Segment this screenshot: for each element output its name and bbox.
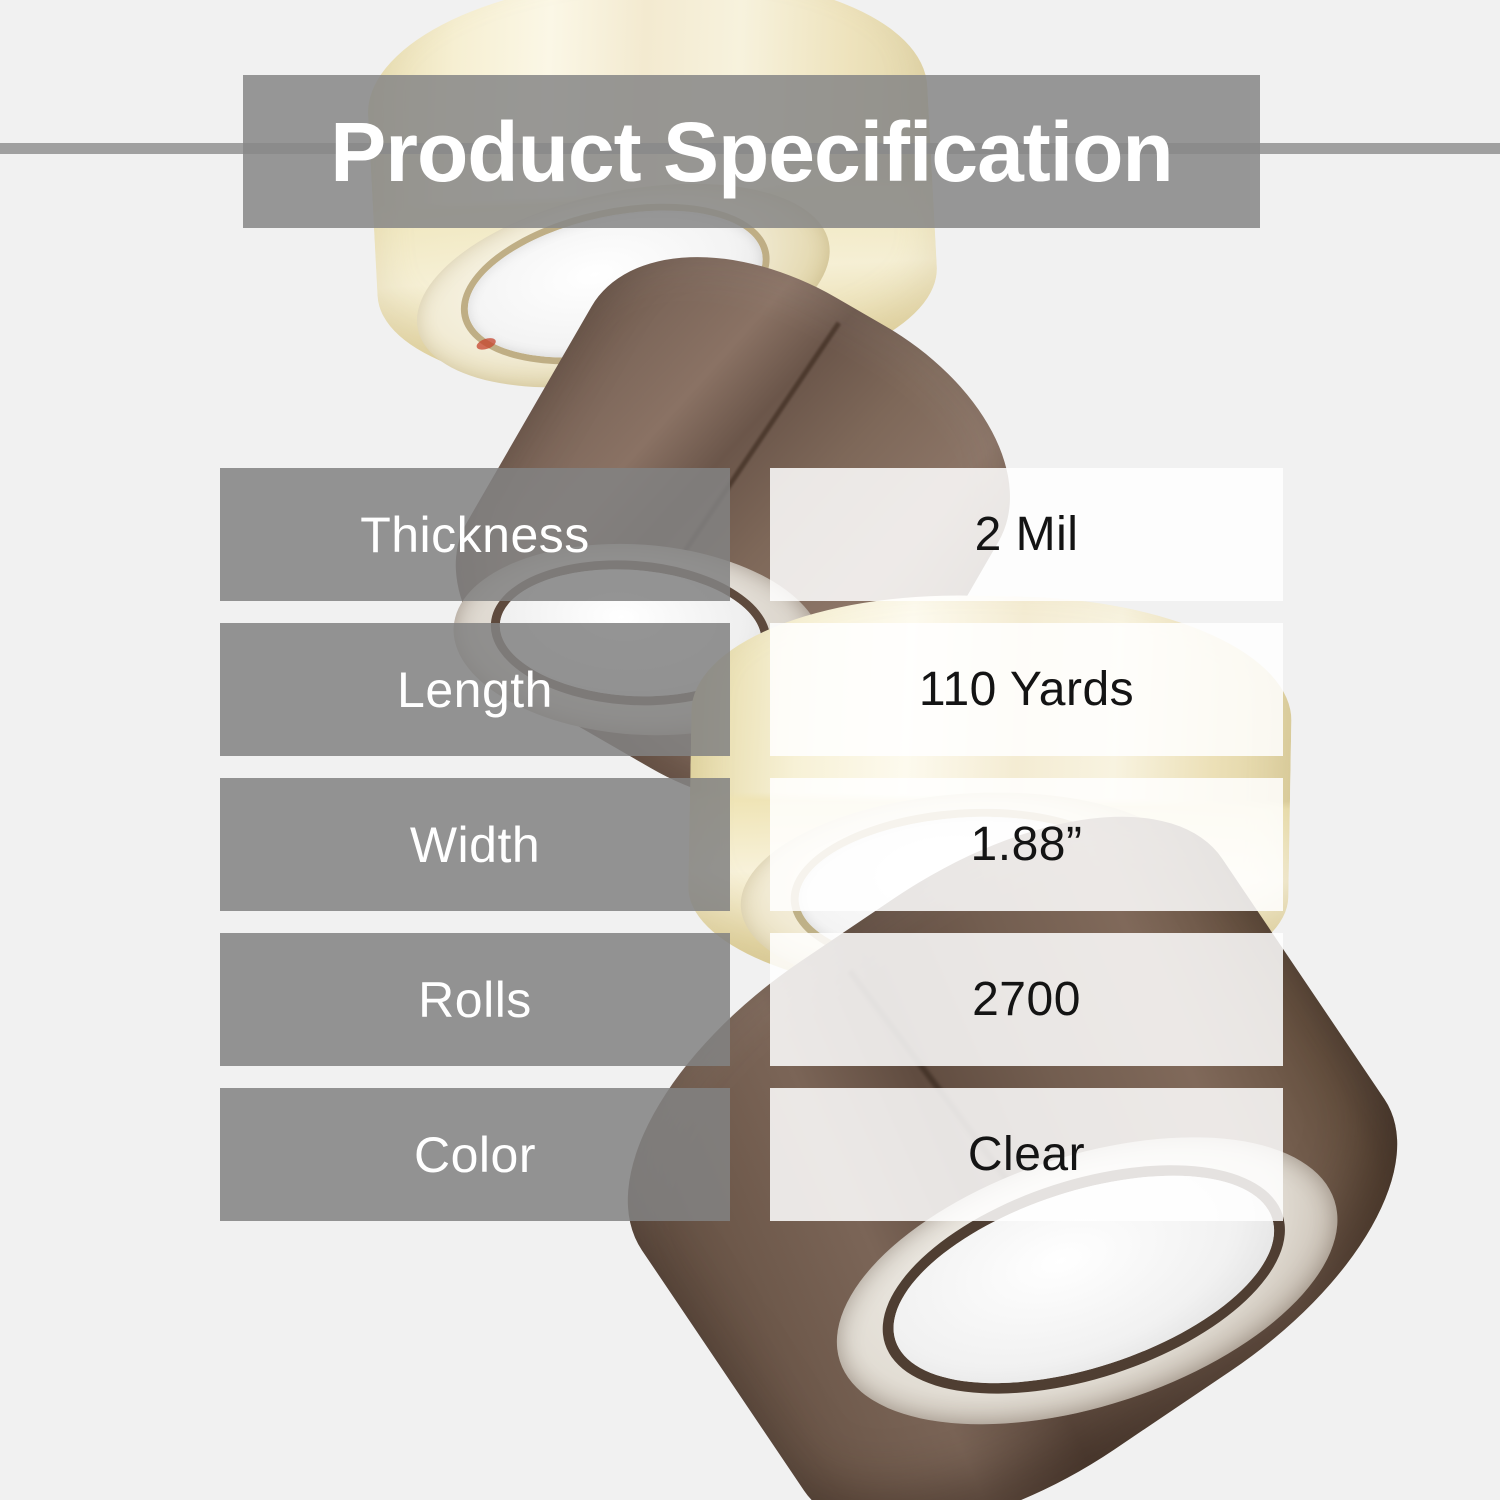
spec-label-text: Rolls [418,975,532,1025]
spec-value-text: 1.88” [971,821,1083,869]
spec-label-text: Length [397,665,553,715]
table-row: Length 110 Yards [220,623,1283,756]
spec-value-rolls: 2700 [770,933,1283,1066]
product-specification-page: Product Specification Thickness 2 Mil Le… [0,0,1500,1500]
spec-label-text: Color [414,1130,536,1180]
page-title: Product Specification [330,110,1172,194]
table-row: Rolls 2700 [220,933,1283,1066]
spec-label-rolls: Rolls [220,933,730,1066]
specification-table: Thickness 2 Mil Length 110 Yards Width 1… [220,468,1283,1221]
spec-value-text: 2700 [972,976,1081,1024]
spec-label-length: Length [220,623,730,756]
spec-value-length: 110 Yards [770,623,1283,756]
spec-value-text: 110 Yards [919,666,1134,714]
spec-label-color: Color [220,1088,730,1221]
spec-value-text: Clear [968,1131,1085,1179]
spec-value-color: Clear [770,1088,1283,1221]
spec-label-text: Thickness [360,510,590,560]
spec-value-text: 2 Mil [975,511,1079,559]
table-row: Width 1.88” [220,778,1283,911]
table-row: Color Clear [220,1088,1283,1221]
spec-label-text: Width [410,820,540,870]
table-row: Thickness 2 Mil [220,468,1283,601]
spec-label-thickness: Thickness [220,468,730,601]
spec-value-width: 1.88” [770,778,1283,911]
spec-label-width: Width [220,778,730,911]
spec-value-thickness: 2 Mil [770,468,1283,601]
title-banner: Product Specification [243,75,1260,228]
